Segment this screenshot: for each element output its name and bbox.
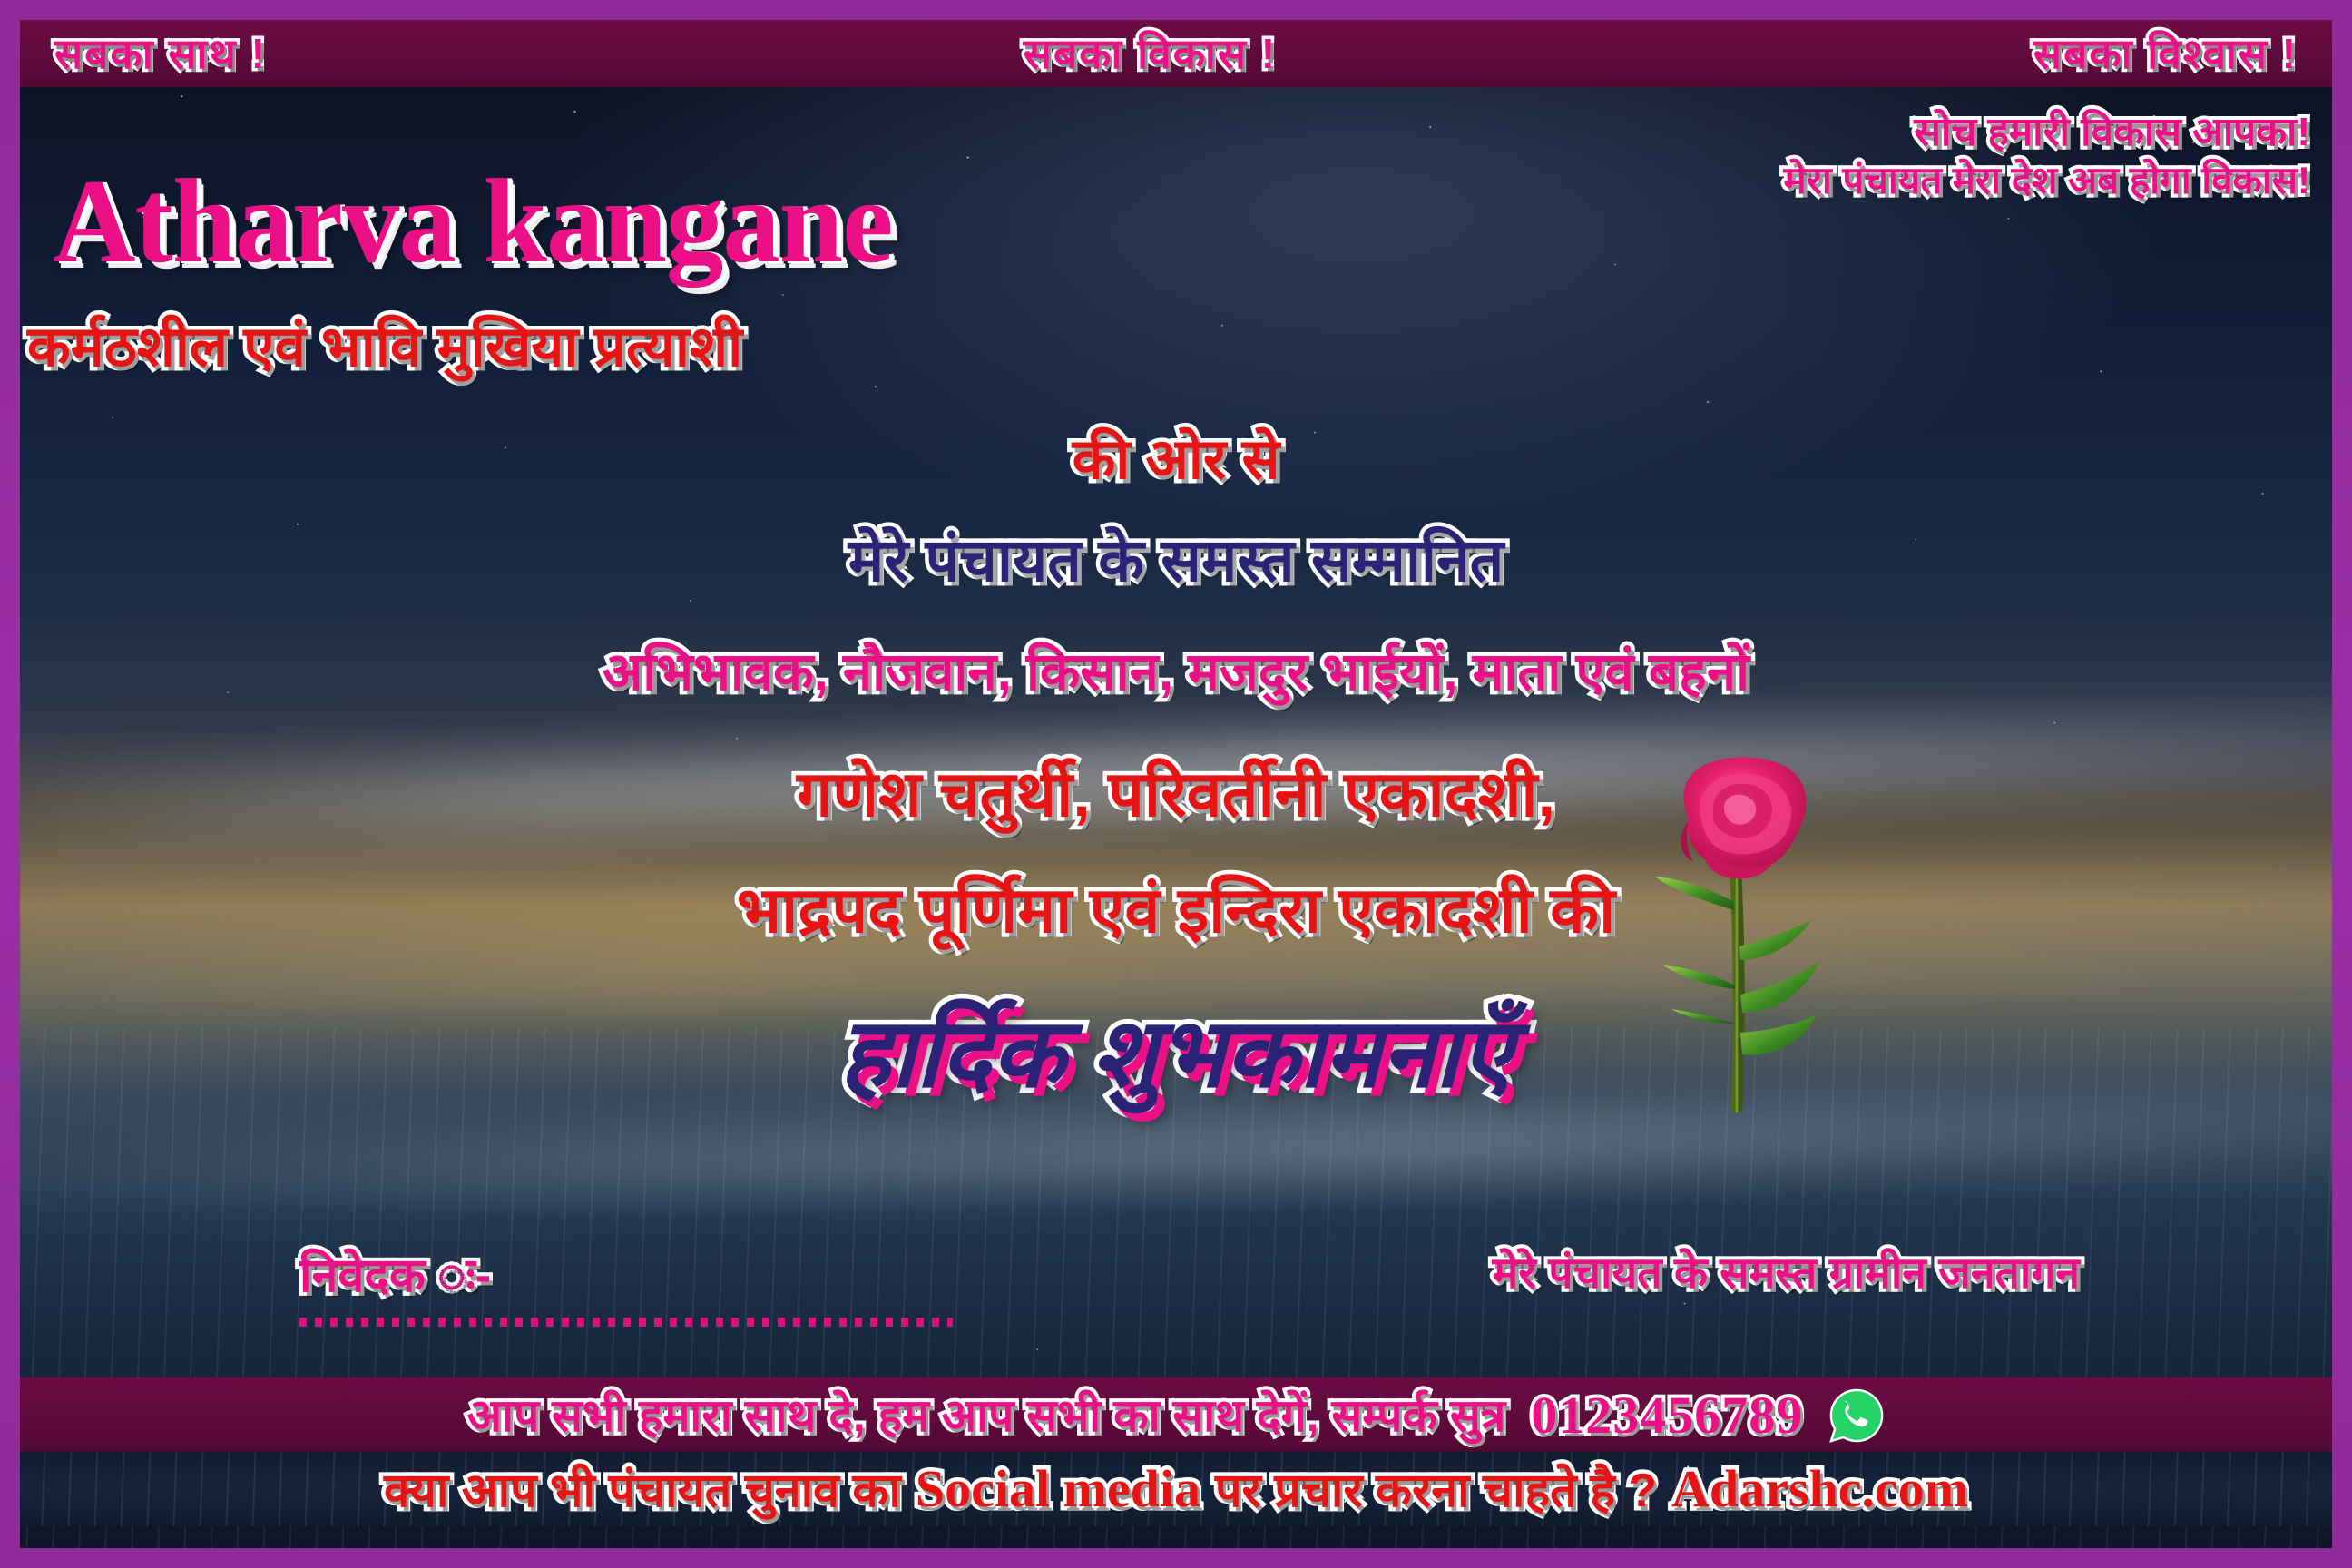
on-behalf-of-label: की ओर से (0, 432, 2352, 488)
festival-line-2: भाद्रपद पूर्णिमा एवं इन्दिरा एकादशी की (0, 878, 2352, 942)
nivedak-value: मेरे पंचायत के समस्त ग्रामीन जनतागन (1493, 1252, 2080, 1296)
promo-footer-bar: क्या आप भी पंचायत चुनाव का Social media … (20, 1448, 2332, 1526)
promo-message: क्या आप भी पंचायत चुनाव का Social media … (384, 1463, 1968, 1515)
nivedak-label: निवेदक ः- (299, 1252, 491, 1299)
candidate-name: Atharva kangane (53, 162, 893, 281)
nivedak-row: निवेदक ः- मेरे पंचायत के समस्त ग्रामीन ज… (0, 1252, 2352, 1299)
rose-flower-icon (1633, 751, 1842, 1114)
addressee-line-1: मेरे पंचायत के समस्त सम्मानित (0, 530, 2352, 590)
promo-social-media-label: Social media (916, 1463, 1200, 1515)
contact-phone-number[interactable]: 0123456789 (1531, 1389, 1803, 1442)
promo-website-link[interactable]: Adarshc.com (1671, 1463, 1968, 1515)
slogan-sabka-vishwas: सबका विश्वास ! (2033, 33, 2298, 74)
whatsapp-icon[interactable] (1828, 1387, 1885, 1444)
campaign-tagline-block: सोच हमारी विकास आपका! मेरा पंचायत मेरा द… (1784, 113, 2310, 200)
candidate-role: कर्मठशील एवं भावि मुखिया प्रत्याशी (27, 319, 742, 376)
nivedak-dotted-line (299, 1318, 953, 1327)
festival-line-1: गणेश चतुर्थी, परिवर्तीनी एकादशी, (0, 762, 2352, 826)
promo-text-before: क्या आप भी पंचायत चुनाव का (384, 1467, 901, 1514)
contact-footer-inner: आप सभी हमारा साथ दे, हम आप सभी का साथ दे… (20, 1387, 2332, 1444)
promo-text-after: पर प्रचार करना चाहते है ? (1215, 1467, 1657, 1514)
addressee-line-2: अभिभावक, नौजवान, किसान, मजदुर भाईयों, मा… (0, 646, 2352, 699)
tagline-line-2: मेरा पंचायत मेरा देश अब होगा विकास! (1784, 162, 2310, 200)
tagline-line-1: सोच हमारी विकास आपका! (1784, 113, 2310, 152)
contact-footer-bar: आप सभी हमारा साथ दे, हम आप सभी का साथ दे… (20, 1377, 2332, 1454)
slogan-sabka-saath: सबका साथ ! (54, 33, 267, 74)
election-greeting-poster: सबका साथ ! सबका विकास ! सबका विश्वास ! स… (0, 0, 2352, 1568)
slogan-row: सबका साथ ! सबका विकास ! सबका विश्वास ! (20, 33, 2332, 74)
support-message: आप सभी हमारा साथ दे, हम आप सभी का साथ दे… (467, 1393, 1505, 1438)
top-slogan-bar: सबका साथ ! सबका विकास ! सबका विश्वास ! (20, 20, 2332, 87)
hardik-shubhkamnaye-headline: हार्दिक शुभकामनाएँ (0, 1005, 2352, 1102)
slogan-sabka-vikas: सबका विकास ! (1024, 33, 1277, 74)
